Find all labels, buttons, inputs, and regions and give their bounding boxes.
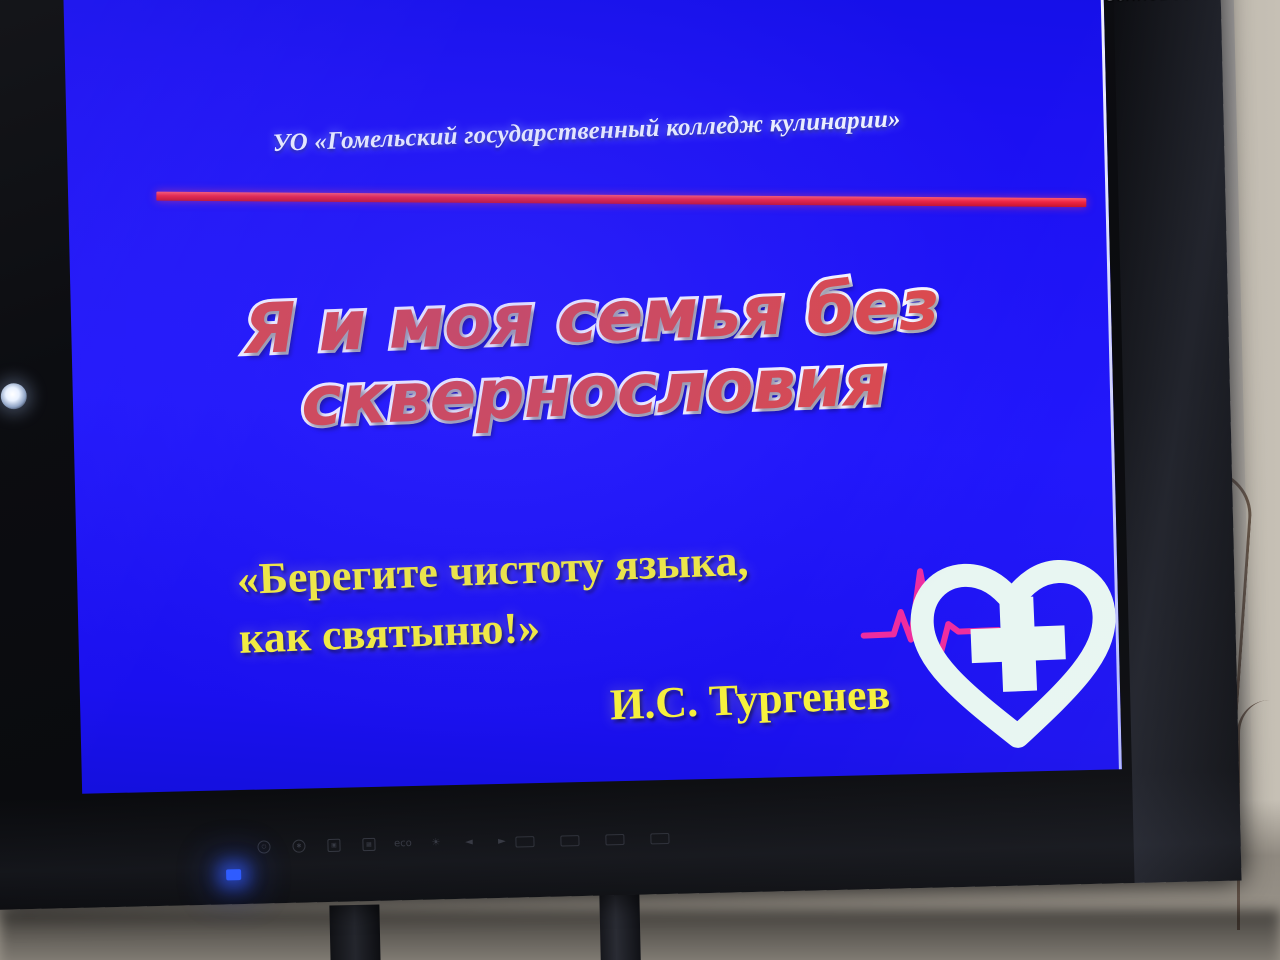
eco-icon[interactable]: eco: [397, 838, 408, 849]
volume-down-icon[interactable]: ◄: [463, 837, 474, 848]
monitor-stand-arm: [329, 904, 380, 960]
settings-icon[interactable]: ✱: [292, 840, 305, 853]
vga-port: [560, 835, 579, 846]
volume-up-icon[interactable]: ►: [496, 836, 507, 847]
display-monitor: TechnoBoard УО «Гомельский государственн…: [0, 0, 1255, 920]
bezel-highlight-right: [1113, 0, 1255, 883]
slide-quote: «Берегите чистоту языка, как святыню!»: [236, 525, 940, 668]
slide-title-line-2: сквернословия: [72, 337, 1114, 448]
presentation-slide: УО «Гомельский государственный колледж к…: [63, 0, 1122, 794]
medical-cross: [969, 595, 1067, 693]
input-source-icon[interactable]: ▣: [327, 839, 340, 852]
hdmi-port: [515, 836, 534, 847]
photo-scene: TechnoBoard УО «Гомельский государственн…: [0, 0, 1280, 960]
power-icon[interactable]: ⏻: [257, 840, 270, 853]
display-screen: УО «Гомельский государственный колледж к…: [63, 0, 1122, 794]
title-divider-line: [156, 192, 1086, 207]
power-indicator-led: [226, 869, 241, 880]
heart-with-medical-cross-and-heartbeat-icon: [844, 506, 1122, 758]
brightness-icon[interactable]: ☀: [430, 837, 441, 848]
usb-port: [605, 834, 624, 845]
slide-main-title: Я и моя семья без сквернословия: [70, 263, 1115, 448]
audio-port: [650, 833, 669, 844]
quote-attribution: И.С. Тургенев: [80, 668, 891, 751]
organization-heading: УО «Гомельский государственный колледж к…: [67, 97, 1107, 166]
menu-grid-icon[interactable]: ▦: [362, 838, 375, 851]
